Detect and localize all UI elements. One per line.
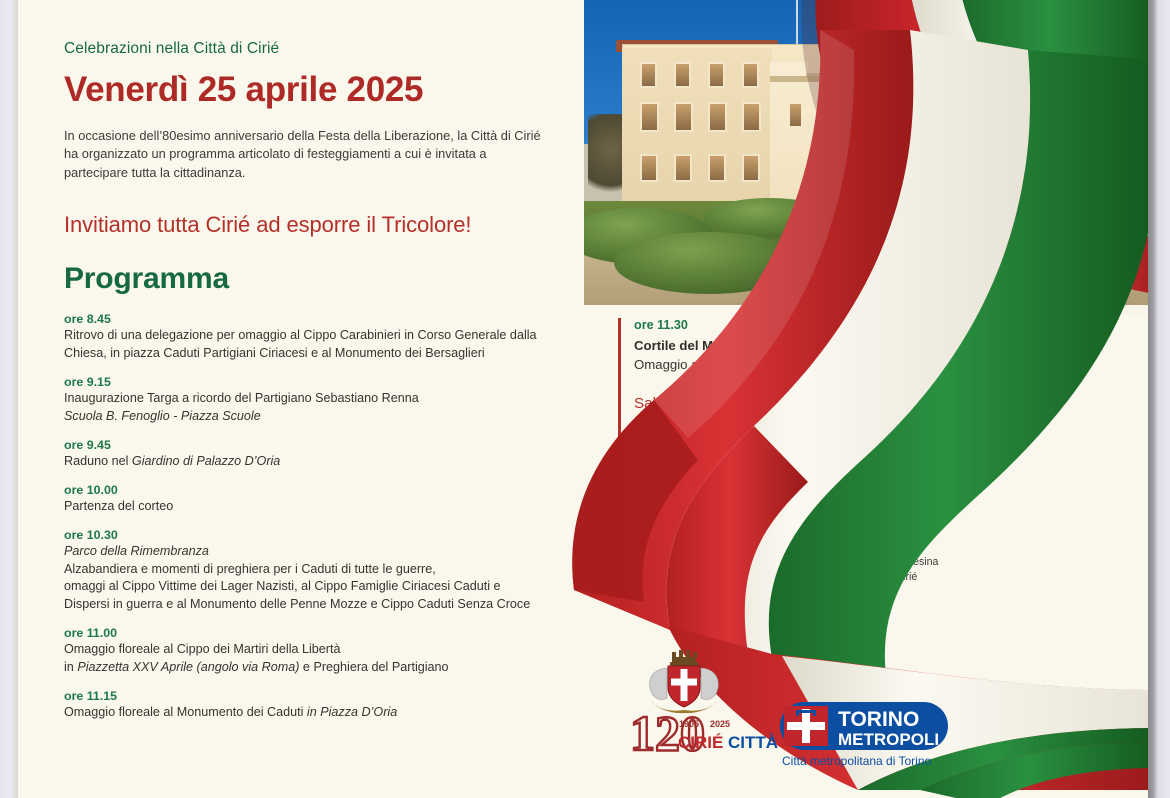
vertical-scrollbar[interactable]	[1148, 0, 1170, 798]
page-title: Venerdì 25 aprile 2025	[64, 72, 574, 109]
photo-vignette	[584, 0, 1148, 305]
left-gutter	[0, 0, 18, 798]
right-venue: Cortile del Municipio	[634, 338, 958, 353]
programme-item-time: ore 9.15	[64, 375, 574, 389]
programme-item: ore 9.15Inaugurazione Targa a ricordo de…	[64, 375, 574, 426]
programme-item-line: Dispersi in guerra e al Monumento delle …	[64, 596, 574, 614]
right-subtitle: Omaggio alla Lapide dei Caduti	[634, 357, 958, 372]
right-column: ore 11.30 Cortile del Municipio Omaggio …	[618, 318, 958, 586]
programme-item-time: ore 10.30	[64, 528, 574, 542]
programme-item-line: Omaggio floreale al Monumento dei Caduti…	[64, 704, 574, 722]
right-time: ore 11.30	[634, 318, 958, 332]
programme-item-line: Raduno nel Giardino di Palazzo D’Oria	[64, 453, 574, 471]
svg-text:2025: 2025	[710, 719, 730, 729]
poster-page: Celebrazioni nella Città di Cirié Venerd…	[18, 0, 1148, 798]
programme-item: ore 8.45Ritrovo di una delegazione per o…	[64, 312, 574, 363]
programme-item: ore 10.30Parco della RimembranzaAlzaband…	[64, 528, 574, 615]
programme-item-line: Inaugurazione Targa a ricordo del Partig…	[64, 390, 574, 408]
speech-list: Saluto del Sindaco di Cirié Loredana Dev…	[634, 394, 958, 517]
programme-item-line: Parco della Rimembranza	[64, 543, 574, 561]
speech-item: Orazione ufficiale delPresidente Sen. Pi…	[634, 473, 958, 517]
kicker-text: Celebrazioni nella Città di Cirié	[64, 40, 574, 58]
note-line: Con la partecipazione della Pattuglia Be…	[634, 570, 958, 586]
svg-text:METROPOLI: METROPOLI	[838, 730, 939, 749]
programme-item-line: Omaggio floreale al Cippo dei Martiri de…	[64, 641, 574, 659]
palazzo-doria-photo	[584, 0, 1148, 305]
programme-item-time: ore 8.45	[64, 312, 574, 326]
programme-item: ore 10.00Partenza del corteo	[64, 483, 574, 516]
document-viewer: Celebrazioni nella Città di Cirié Venerd…	[0, 0, 1170, 798]
programme-item-time: ore 11.15	[64, 689, 574, 703]
programme-item-time: ore 9.45	[64, 438, 574, 452]
programme-item: ore 9.45Raduno nel Giardino di Palazzo D…	[64, 438, 574, 471]
programme-item-line: Scuola B. Fenoglio - Piazza Scuole	[64, 408, 574, 426]
programme-item-line: Partenza del corteo	[64, 498, 574, 516]
anniversary-120-logo: 120 1905 2025 CIRIÉ CITTÀ	[630, 706, 780, 760]
svg-text:Città metropolitana di Torino: Città metropolitana di Torino	[782, 754, 932, 768]
svg-text:1905: 1905	[679, 719, 699, 729]
speech-item: Saluto del Sindaco di Cirié Loredana Dev…	[634, 394, 958, 414]
programme-item: ore 11.00Omaggio floreale al Cippo dei M…	[64, 626, 574, 677]
cirie-coat-of-arms-icon	[636, 648, 732, 714]
intro-paragraph: In occasione dell’80esimo anniversario d…	[64, 127, 548, 183]
logo-row: 120 1905 2025 CIRIÉ CITTÀ TORINO	[626, 648, 956, 778]
notes-list: Seguirà rinfresco per i presentiAccompag…	[634, 539, 958, 586]
note-line: Seguirà rinfresco per i presenti	[634, 539, 958, 555]
programme-list: ore 8.45Ritrovo di una delegazione per o…	[64, 312, 574, 721]
left-column: Celebrazioni nella Città di Cirié Venerd…	[64, 40, 574, 734]
svg-text:CIRIÉ: CIRIÉ	[678, 733, 723, 752]
note-line: Accompagnamento musicale della Società F…	[634, 555, 958, 571]
torino-metropoli-logo: TORINO METROPOLI Città metropolitana di …	[778, 700, 953, 772]
speech-item: Intervento degli studenti partecipanti a…	[634, 423, 958, 464]
programme-item-time: ore 10.00	[64, 483, 574, 497]
programme-title: Programma	[64, 262, 574, 296]
invite-line: Invitiamo tutta Cirié ad esporre il Tric…	[64, 212, 574, 238]
svg-text:TORINO: TORINO	[838, 708, 919, 731]
programme-item-line: Alzabandiera e momenti di preghiera per …	[64, 561, 574, 579]
programme-item: ore 11.15Omaggio floreale al Monumento d…	[64, 689, 574, 722]
red-rule	[618, 318, 621, 508]
programme-item-line: Chiesa, in piazza Caduti Partigiani Ciri…	[64, 345, 574, 363]
programme-item-line: Ritrovo di una delegazione per omaggio a…	[64, 327, 574, 345]
programme-item-line: in Piazzetta XXV Aprile (angolo via Roma…	[64, 659, 574, 677]
programme-item-line: omaggi al Cippo Vittime dei Lager Nazist…	[64, 578, 574, 596]
svg-text:CITTÀ: CITTÀ	[728, 733, 778, 752]
programme-item-time: ore 11.00	[64, 626, 574, 640]
